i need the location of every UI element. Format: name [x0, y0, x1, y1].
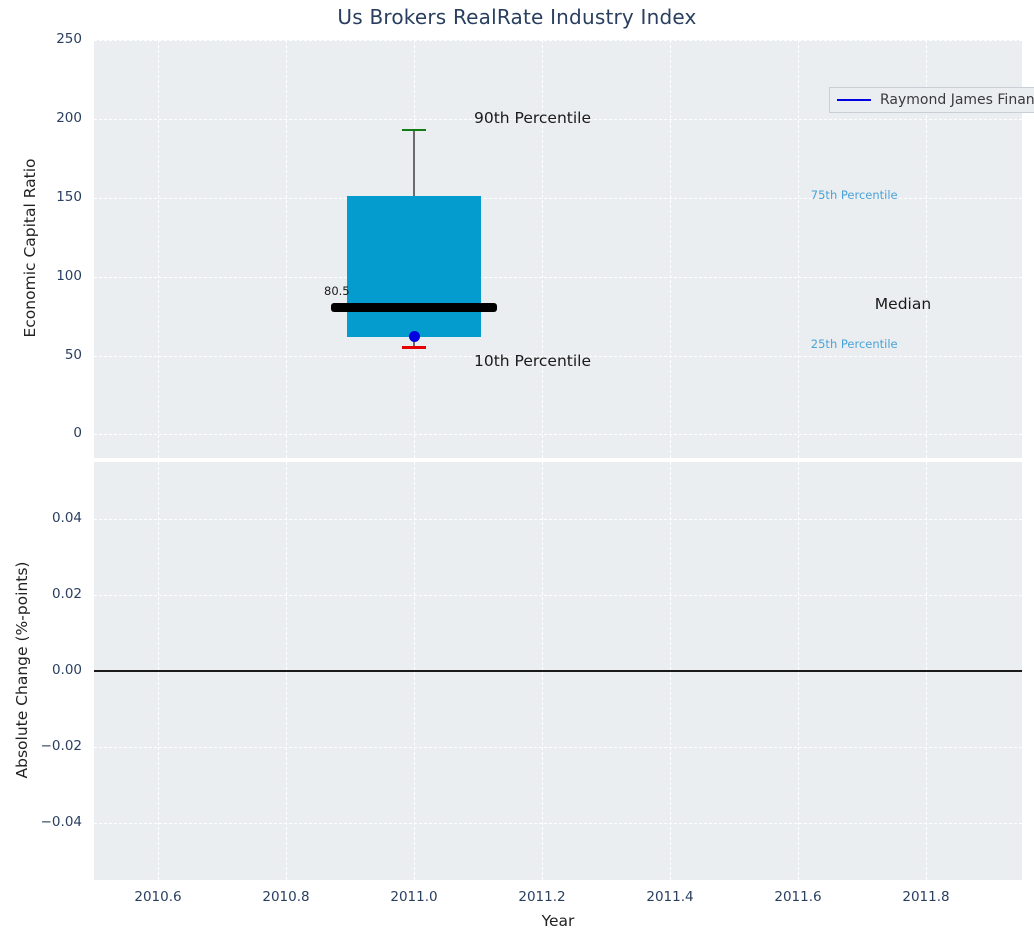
gridline-horizontal [94, 595, 1022, 596]
legend[interactable]: Raymond James Financial INC [829, 87, 1034, 113]
panel-economic-capital-ratio: 80.5 90th Percentile 75th Percentile Med… [94, 40, 1022, 458]
gridline-horizontal [94, 40, 1022, 41]
gridline-vertical [158, 40, 159, 458]
x-axis-tick-label: 2010.6 [103, 889, 213, 905]
gridline-horizontal [94, 519, 1022, 520]
annotation-25th-percentile: 25th Percentile [811, 337, 898, 351]
gridline-vertical [670, 40, 671, 458]
gridline-vertical [542, 40, 543, 458]
annotation-10th-percentile: 10th Percentile [474, 352, 591, 370]
median-bar [331, 303, 497, 312]
x-axis-tick-label: 2011.8 [871, 889, 981, 905]
zero-reference-line [94, 670, 1022, 672]
gridline-vertical [798, 40, 799, 458]
y-axis-title-bottom: Absolute Change (%-points) [13, 461, 31, 879]
gridline-vertical [286, 40, 287, 458]
gridline-horizontal [94, 823, 1022, 824]
x-axis-title: Year [94, 912, 1022, 930]
gridline-horizontal [94, 434, 1022, 435]
median-value-label: 80.5 [324, 284, 350, 298]
legend-line-swatch [837, 99, 871, 101]
whisker-cap-p90 [402, 129, 426, 132]
annotation-median: Median [875, 295, 931, 313]
x-axis-tick-label: 2011.2 [487, 889, 597, 905]
x-axis-tick-label: 2010.8 [231, 889, 341, 905]
annotation-90th-percentile: 90th Percentile [474, 109, 591, 127]
chart-title: Us Brokers RealRate Industry Index [0, 5, 1034, 29]
x-axis-tick-label: 2011.6 [743, 889, 853, 905]
x-axis-tick-label: 2011.4 [615, 889, 725, 905]
gridline-horizontal [94, 747, 1022, 748]
y-axis-title-top: Economic Capital Ratio [21, 39, 39, 457]
chart-root: Us Brokers RealRate Industry Index 80.5 … [0, 0, 1034, 942]
panel-absolute-change [94, 462, 1022, 880]
whisker-cap-p10 [402, 346, 426, 349]
annotation-75th-percentile: 75th Percentile [811, 188, 898, 202]
legend-label-raymond-james: Raymond James Financial INC [880, 92, 1034, 108]
x-axis-tick-label: 2011.0 [359, 889, 469, 905]
gridline-horizontal [94, 277, 1022, 278]
company-marker-dot[interactable] [409, 331, 420, 342]
box-interquartile-range [347, 196, 481, 336]
